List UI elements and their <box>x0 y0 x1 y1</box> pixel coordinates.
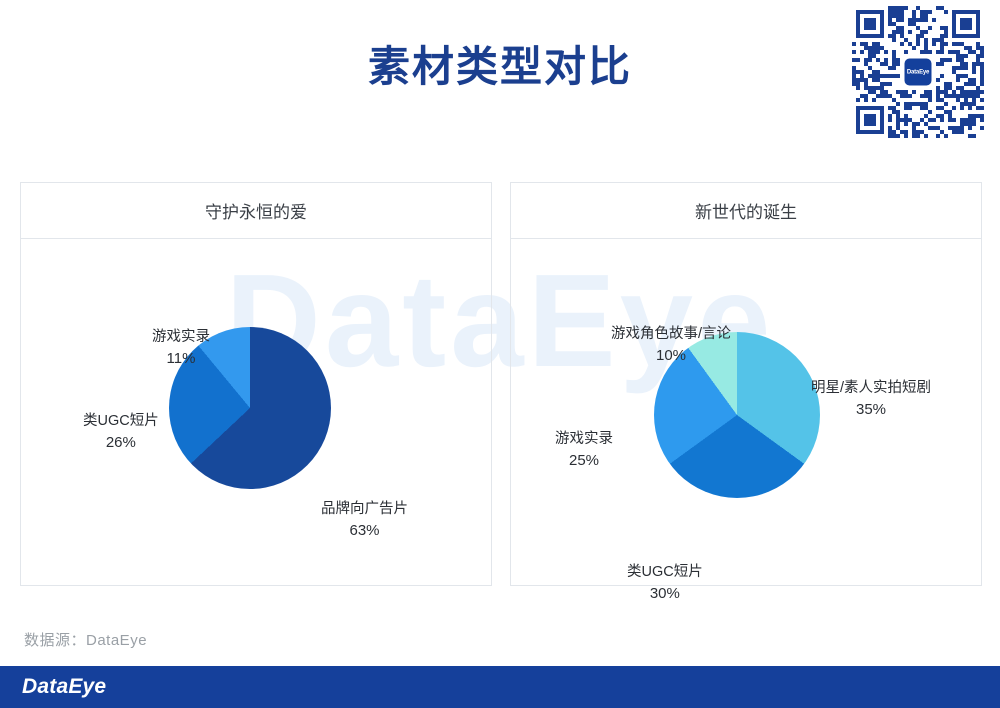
slice-name: 游戏角色故事/言论 <box>611 326 731 342</box>
slice-value: 35% <box>811 399 931 421</box>
slice-name: 品牌向广告片 <box>321 501 408 517</box>
slice-value: 25% <box>555 450 613 472</box>
pie-slice-label-ugc: 类UGC短片 30% <box>627 562 703 605</box>
qr-center-logo: DataEye <box>905 59 932 86</box>
slice-value: 26% <box>83 432 159 454</box>
pie-slice-label-character-story: 游戏角色故事/言论 10% <box>611 324 731 367</box>
slice-value: 30% <box>627 583 703 605</box>
chart-panel-left: 守护永恒的爱 品牌向广告片 63% 类UGC短片 26% 游戏实录 11% <box>20 182 492 586</box>
slice-value: 11% <box>152 348 210 370</box>
brand-footer-bar: DataEye <box>0 666 1000 708</box>
pie-slice-label-celebrity-drama: 明星/素人实拍短剧 35% <box>811 378 931 421</box>
pie-slice-label-gameplay: 游戏实录 11% <box>152 327 210 370</box>
chart-panel-left-body: 品牌向广告片 63% 类UGC短片 26% 游戏实录 11% <box>21 239 491 586</box>
slice-value: 63% <box>321 520 408 542</box>
slice-value: 10% <box>611 345 731 367</box>
source-note: 数据源：DataEye <box>24 629 147 650</box>
slice-name: 类UGC短片 <box>83 413 159 429</box>
pie-slice-label-ugc: 类UGC短片 26% <box>83 411 159 454</box>
slice-name: 游戏实录 <box>152 329 210 345</box>
charts-container: 守护永恒的爱 品牌向广告片 63% 类UGC短片 26% 游戏实录 11% 新世… <box>20 182 982 586</box>
chart-panel-right-title: 新世代的诞生 <box>511 183 981 239</box>
pie-slice-label-brand-ad: 品牌向广告片 63% <box>321 499 408 542</box>
chart-panel-right: 新世代的诞生 明星/素人实拍短剧 35% 类UGC短片 30% 游戏实录 25%… <box>510 182 982 586</box>
slice-name: 明星/素人实拍短剧 <box>811 380 931 396</box>
chart-panel-left-title: 守护永恒的爱 <box>21 183 491 239</box>
brand-logo: DataEye <box>22 675 106 699</box>
qr-code[interactable]: DataEye <box>852 6 984 138</box>
page-header: 素材类型对比 DataEye <box>0 0 1000 155</box>
page-title: 素材类型对比 <box>0 46 1000 88</box>
slice-name: 类UGC短片 <box>627 564 703 580</box>
pie-slice-label-gameplay: 游戏实录 25% <box>555 429 613 472</box>
slice-name: 游戏实录 <box>555 431 613 447</box>
chart-panel-right-body: 明星/素人实拍短剧 35% 类UGC短片 30% 游戏实录 25% 游戏角色故事… <box>511 239 981 586</box>
